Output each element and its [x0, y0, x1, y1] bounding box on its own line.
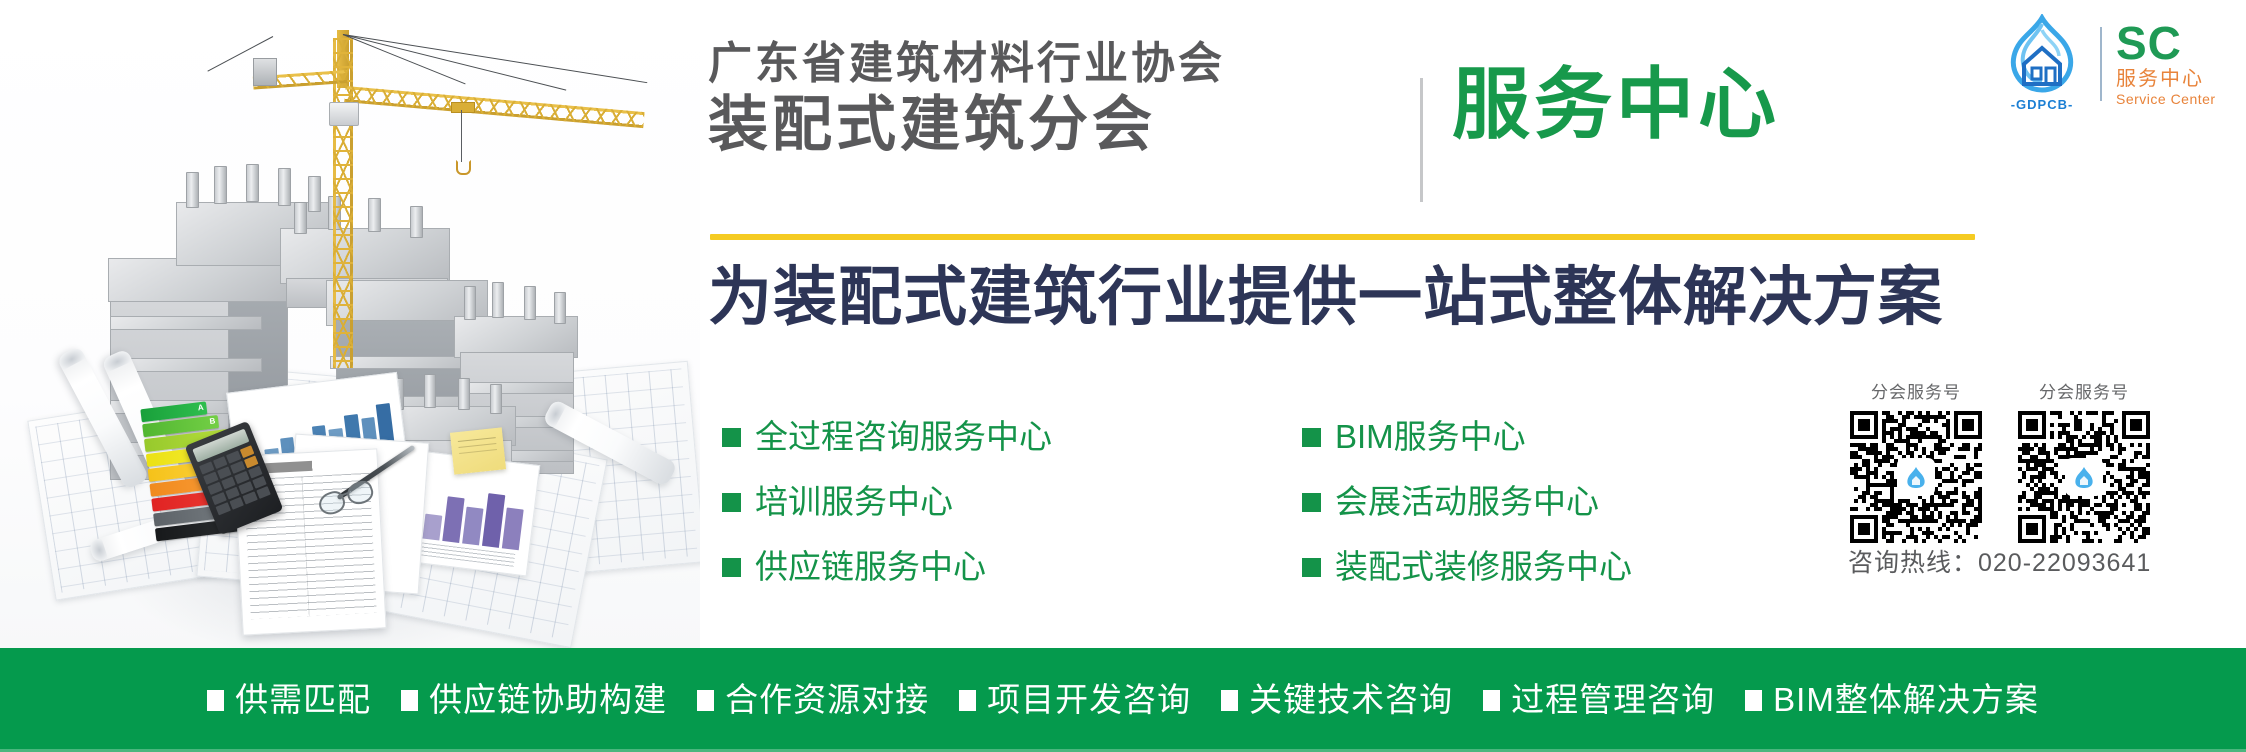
association-name-line1: 广东省建筑材料行业协会 — [708, 38, 1225, 90]
sc-initials: SC — [2116, 21, 2232, 65]
service-list-item-label: 全过程咨询服务中心 — [755, 418, 1052, 456]
square-bullet-icon — [1221, 690, 1238, 711]
service-center-title: 服务中心 — [1452, 58, 1780, 150]
service-list-item: 装配式装修服务中心 — [1302, 548, 1632, 586]
crane-jib — [344, 86, 644, 128]
crane-hoist-line — [461, 110, 462, 162]
gdpcb-house-flame-icon — [1988, 14, 2096, 98]
qr-code-cell: 分会服务号 — [2018, 378, 2150, 543]
sc-logo-text-group: SC 服务中心 Service Center — [2116, 21, 2232, 107]
sc-english-label: Service Center — [2116, 91, 2232, 107]
crane-hook — [456, 160, 471, 175]
qr-code-image[interactable] — [2018, 411, 2150, 543]
qr-code-caption: 分会服务号 — [1850, 378, 1982, 403]
service-list-item-label: 会展活动服务中心 — [1335, 483, 1599, 521]
logo-divider — [2100, 27, 2102, 101]
bottom-bar-item-label: 项目开发咨询 — [987, 681, 1191, 719]
bottom-bar-item: 关键技术咨询 — [1221, 681, 1453, 719]
square-bullet-icon — [1302, 493, 1321, 512]
qr-code-cell: 分会服务号 — [1850, 378, 1982, 543]
square-bullet-icon — [1483, 690, 1500, 711]
bottom-bar-item: 过程管理咨询 — [1483, 681, 1715, 719]
crane-counterweight — [253, 58, 277, 86]
construction-illustration: A B C D E F G H I — [0, 0, 700, 650]
square-bullet-icon — [207, 690, 224, 711]
association-name-line2: 装配式建筑分会 — [708, 92, 1225, 158]
hotline-text: 咨询热线：020-22093641 — [1848, 548, 2151, 578]
gdpcb-flame-icon — [2072, 465, 2096, 489]
qr-code-caption: 分会服务号 — [2018, 378, 2150, 403]
logo-block: -GDPCB- SC 服务中心 Service Center — [1988, 14, 2232, 114]
square-bullet-icon — [722, 493, 741, 512]
qr-center-logo — [2067, 460, 2101, 494]
service-list-item: 全过程咨询服务中心 — [722, 418, 1302, 456]
service-list-item-label: 装配式装修服务中心 — [1335, 548, 1632, 586]
title-divider — [1420, 78, 1423, 202]
qr-code-image[interactable] — [1850, 411, 1982, 543]
gold-divider-rule — [710, 234, 1975, 240]
bottom-bar-item-label: 过程管理咨询 — [1511, 681, 1715, 719]
square-bullet-icon — [1302, 558, 1321, 577]
banner-root: A B C D E F G H I — [0, 0, 2246, 752]
gdpcb-flame-icon — [1904, 465, 1928, 489]
service-center-list: 全过程咨询服务中心 BIM服务中心 培训服务中心 会展活动服务中心 供应链服务中… — [722, 418, 1632, 586]
bottom-bar-item: 供需匹配 — [207, 681, 371, 719]
service-list-item-label: 培训服务中心 — [755, 483, 953, 521]
square-bullet-icon — [1745, 690, 1762, 711]
sc-chinese-label: 服务中心 — [2116, 67, 2232, 91]
bottom-bar-item: 供应链协助构建 — [401, 681, 667, 719]
square-bullet-icon — [722, 428, 741, 447]
service-list-item-label: BIM服务中心 — [1335, 418, 1526, 456]
bottom-bar-item-label: 合作资源对接 — [725, 681, 929, 719]
square-bullet-icon — [959, 690, 976, 711]
service-list-item: 会展活动服务中心 — [1302, 483, 1632, 521]
gdpcb-logo-mark: -GDPCB- — [1988, 14, 2096, 114]
service-list-item: 培训服务中心 — [722, 483, 1302, 521]
square-bullet-icon — [1302, 428, 1321, 447]
qr-center-logo — [1899, 460, 1933, 494]
headline-slogan: 为装配式建筑行业提供一站式整体解决方案 — [708, 258, 1943, 336]
association-name: 广东省建筑材料行业协会 装配式建筑分会 — [708, 38, 1225, 158]
gdpcb-logo-caption: -GDPCB- — [1988, 97, 2096, 112]
square-bullet-icon — [697, 690, 714, 711]
crane-cab — [329, 102, 359, 126]
bottom-bar-item: BIM整体解决方案 — [1745, 681, 2039, 719]
tower-crane — [225, 18, 655, 398]
bottom-bar-item: 合作资源对接 — [697, 681, 929, 719]
square-bullet-icon — [722, 558, 741, 577]
bottom-bar-item-label: 供应链协助构建 — [429, 681, 667, 719]
bottom-bar-item-label: 供需匹配 — [235, 681, 371, 719]
service-list-item: 供应链服务中心 — [722, 548, 1302, 586]
qr-code-group: 分会服务号 分会服务号 — [1850, 378, 2150, 543]
bottom-bar-item-label: 关键技术咨询 — [1249, 681, 1453, 719]
bottom-bar-item-label: BIM整体解决方案 — [1773, 681, 2039, 719]
service-list-item-label: 供应链服务中心 — [755, 548, 986, 586]
bottom-service-bar: 供需匹配 供应链协助构建 合作资源对接 项目开发咨询 关键技术咨询 过程管理咨询 — [0, 648, 2246, 752]
crane-trolley — [451, 102, 475, 113]
service-list-item: BIM服务中心 — [1302, 418, 1632, 456]
square-bullet-icon — [401, 690, 418, 711]
sticky-note — [450, 427, 506, 474]
bottom-bar-item: 项目开发咨询 — [959, 681, 1191, 719]
